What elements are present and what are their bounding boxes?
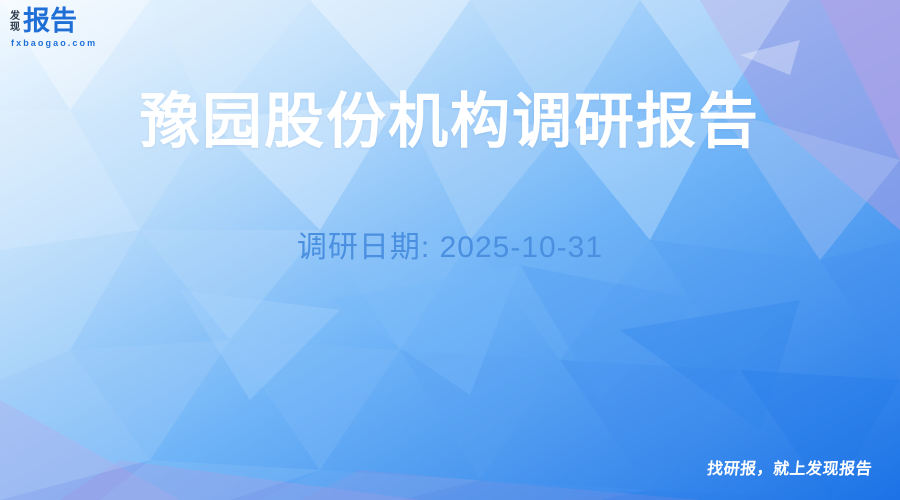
logo-stacked-characters: 发 现 bbox=[10, 11, 20, 35]
report-cover: 发 现 报告 fxbaogao.com 豫园股份机构调研报告 调研日期: 202… bbox=[0, 0, 900, 500]
footer-slogan: 找研报，就上发现报告 bbox=[706, 460, 873, 480]
background-polygon-art bbox=[0, 0, 900, 500]
logo-char-xian: 现 bbox=[10, 22, 20, 33]
logo-website-url: fxbaogao.com bbox=[11, 38, 97, 48]
logo-main-text: 报告 bbox=[23, 7, 77, 35]
logo-wordmark-row: 发 现 报告 bbox=[10, 7, 77, 35]
logo-char-fa: 发 bbox=[10, 11, 20, 22]
brand-logo[interactable]: 发 现 报告 fxbaogao.com bbox=[10, 7, 97, 48]
